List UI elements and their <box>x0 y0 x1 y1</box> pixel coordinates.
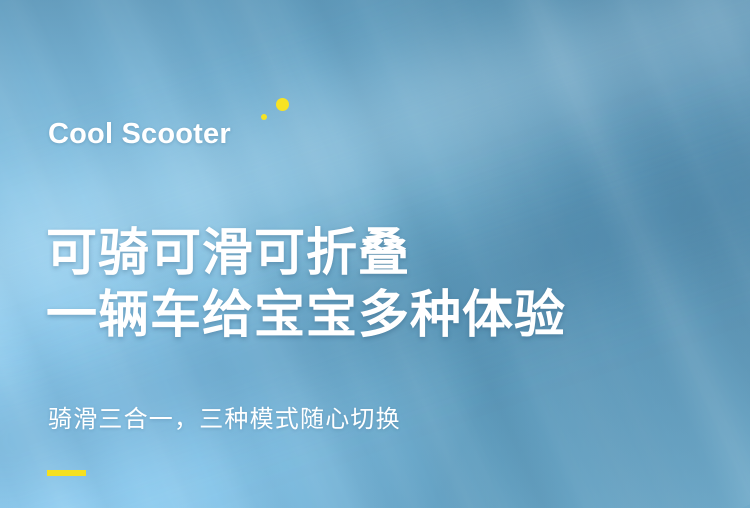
subtitle: 骑滑三合一，三种模式随心切换 <box>48 399 401 434</box>
brand-name: Cool Scooter <box>48 118 231 151</box>
headline-line-1: 可骑可滑可折叠 <box>46 222 566 284</box>
promo-banner: Cool Scooter 可骑可滑可折叠 一辆车给宝宝多种体验 骑滑三合一，三种… <box>0 0 750 508</box>
headline: 可骑可滑可折叠 一辆车给宝宝多种体验 <box>46 222 566 346</box>
yellow-dot-small-icon <box>261 114 267 120</box>
accent-bar <box>47 470 86 476</box>
banner-content: Cool Scooter 可骑可滑可折叠 一辆车给宝宝多种体验 骑滑三合一，三种… <box>0 0 750 508</box>
yellow-dot-large-icon <box>276 98 289 111</box>
headline-line-2: 一辆车给宝宝多种体验 <box>46 284 566 346</box>
